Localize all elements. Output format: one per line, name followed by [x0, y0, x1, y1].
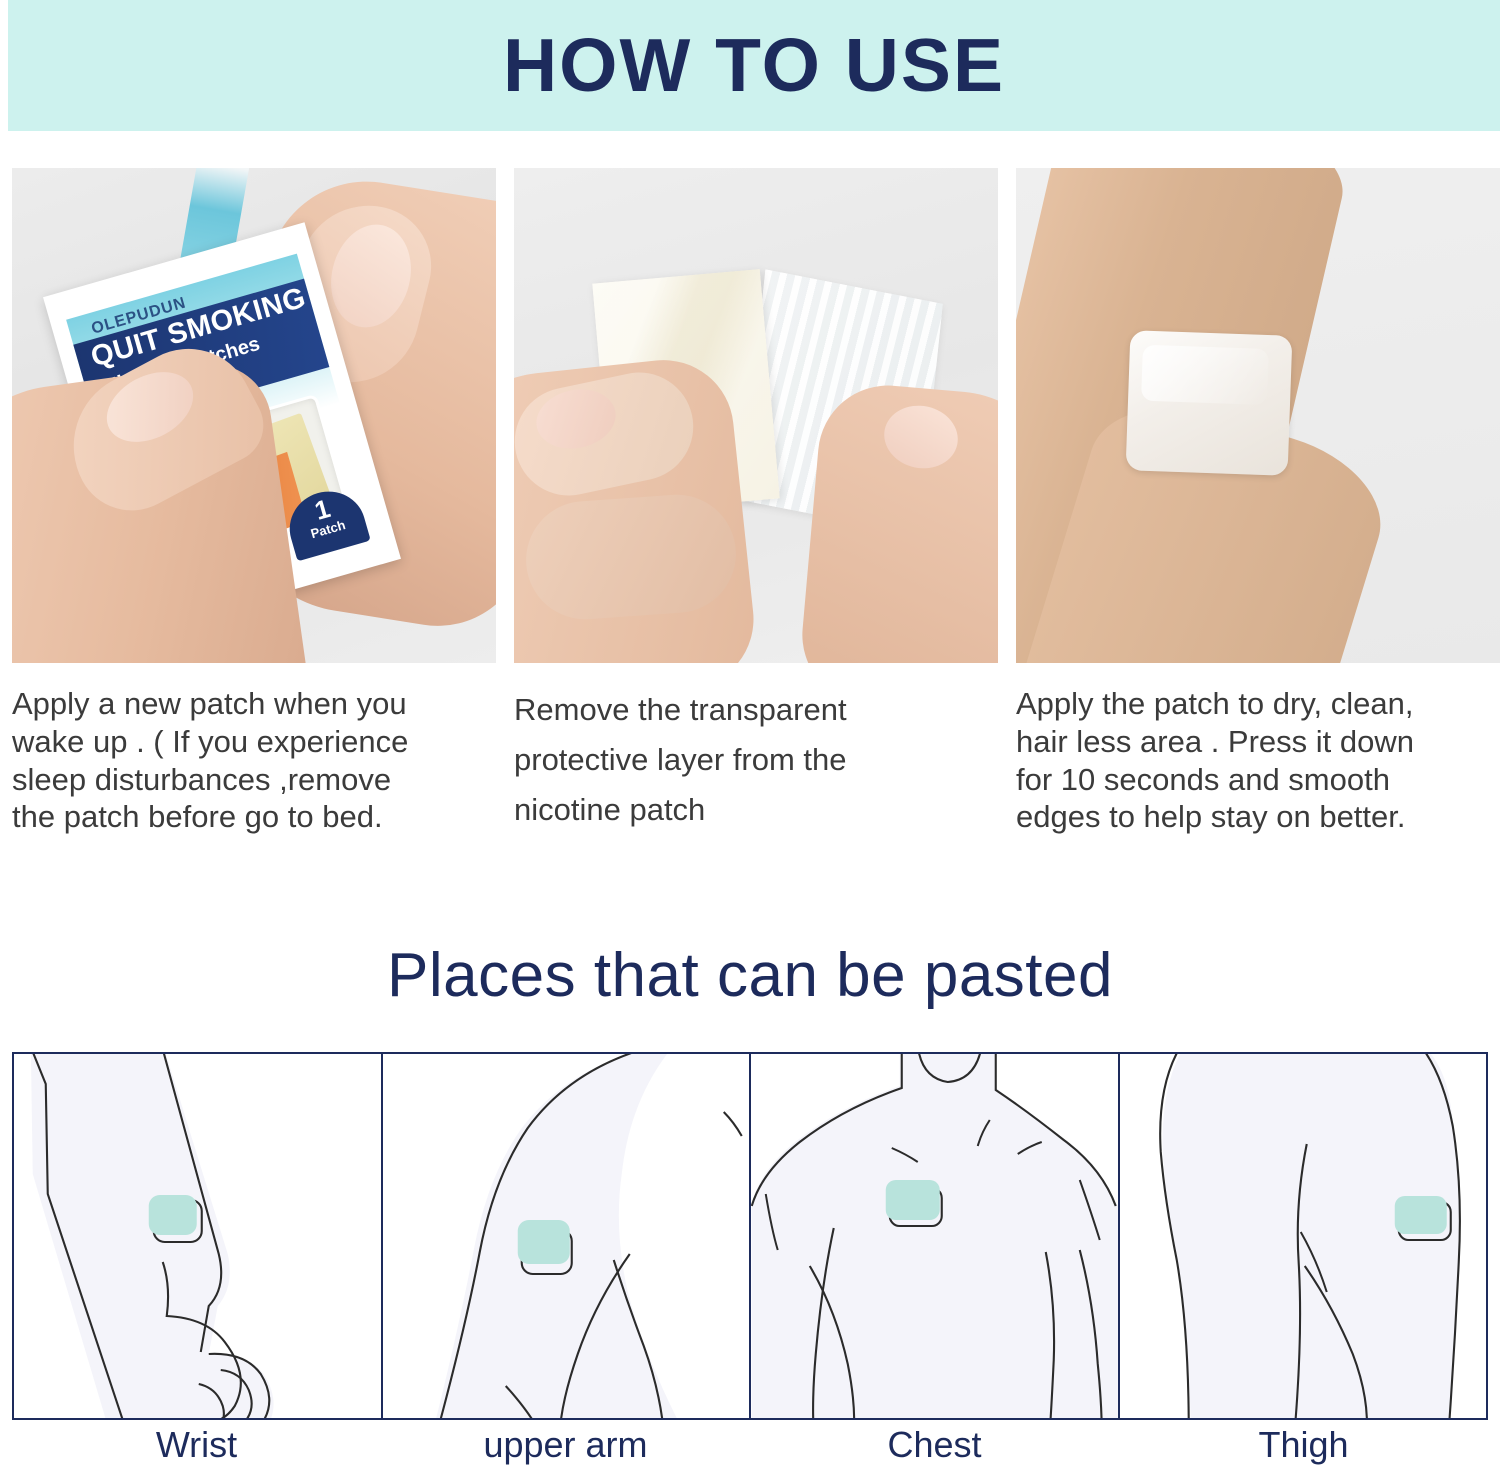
step-3: Apply the patch to dry, clean, hair less… [1016, 168, 1500, 836]
step-3-caption: Apply the patch to dry, clean, hair less… [1016, 685, 1500, 836]
body-site-label-upper-arm: upper arm [381, 1424, 750, 1466]
patch-marker-chest [886, 1180, 940, 1220]
thigh-illustration [1120, 1054, 1487, 1418]
chest-illustration [751, 1054, 1118, 1418]
patch-marker-upper-arm [517, 1220, 569, 1264]
applied-patch [1126, 330, 1293, 476]
steps-row: OLEPUDUN QUIT SMOKING Nicotine Patches T… [0, 168, 1500, 836]
body-site-labels-row: Wrist upper arm Chest Thigh [12, 1424, 1488, 1466]
step-1: OLEPUDUN QUIT SMOKING Nicotine Patches T… [12, 168, 496, 836]
body-site-label-chest: Chest [750, 1424, 1119, 1466]
body-site-label-wrist: Wrist [12, 1424, 381, 1466]
step-2-caption: Remove the transparent protective layer … [514, 685, 998, 836]
header-banner: HOW TO USE [8, 0, 1500, 131]
body-cell-chest [751, 1054, 1120, 1418]
section-title-places: Places that can be pasted [0, 940, 1500, 1011]
finger-left-lower [522, 491, 740, 623]
page-title: HOW TO USE [503, 28, 1005, 103]
body-cell-thigh [1120, 1054, 1487, 1418]
patch-marker-wrist [149, 1195, 197, 1235]
upper-arm-illustration [383, 1054, 750, 1418]
photo-package-in-hands: OLEPUDUN QUIT SMOKING Nicotine Patches T… [12, 168, 496, 663]
wrist-illustration [14, 1054, 381, 1418]
body-cell-upper-arm [383, 1054, 752, 1418]
body-cell-wrist [14, 1054, 383, 1418]
photo-patch-on-arm [1016, 168, 1500, 663]
patch-marker-thigh [1394, 1196, 1446, 1234]
photo-removing-liner [514, 168, 998, 663]
step-2: Remove the transparent protective layer … [514, 168, 998, 836]
body-site-label-thigh: Thigh [1119, 1424, 1488, 1466]
body-sites-grid [12, 1052, 1488, 1420]
step-1-caption: Apply a new patch when you wake up . ( I… [12, 685, 496, 836]
